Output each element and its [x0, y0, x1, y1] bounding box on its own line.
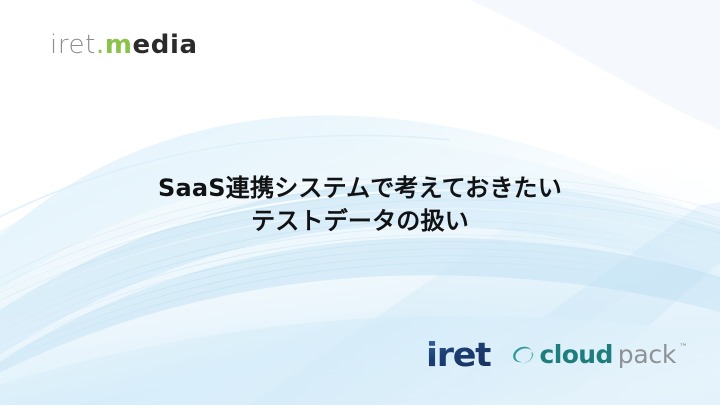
title-line-2: テストデータの扱い — [0, 205, 720, 238]
cloudpack-text-pack: pack — [618, 342, 676, 367]
cloudpack-swoosh-icon — [511, 345, 535, 365]
presentation-slide: iret.media SaaS連携システムで考えておきたい テストデータの扱い … — [0, 0, 720, 405]
footer-logo-group: iret cloudpack™ — [426, 338, 688, 371]
logo-text-m: m — [105, 30, 133, 60]
title-line-1: SaaS連携システムで考えておきたい — [0, 172, 720, 205]
iret-media-logo[interactable]: iret.media — [50, 32, 198, 58]
logo-text-iret: iret — [50, 30, 96, 60]
logo-text-dot: . — [96, 30, 105, 60]
cloudpack-text-cloud: cloud — [540, 342, 613, 367]
slide-title: SaaS連携システムで考えておきたい テストデータの扱い — [0, 172, 720, 238]
cloudpack-logo[interactable]: cloudpack™ — [511, 342, 688, 367]
iret-corporate-logo[interactable]: iret — [426, 338, 491, 371]
cloudpack-trademark: ™ — [679, 344, 688, 353]
logo-text-edia: edia — [133, 30, 198, 60]
